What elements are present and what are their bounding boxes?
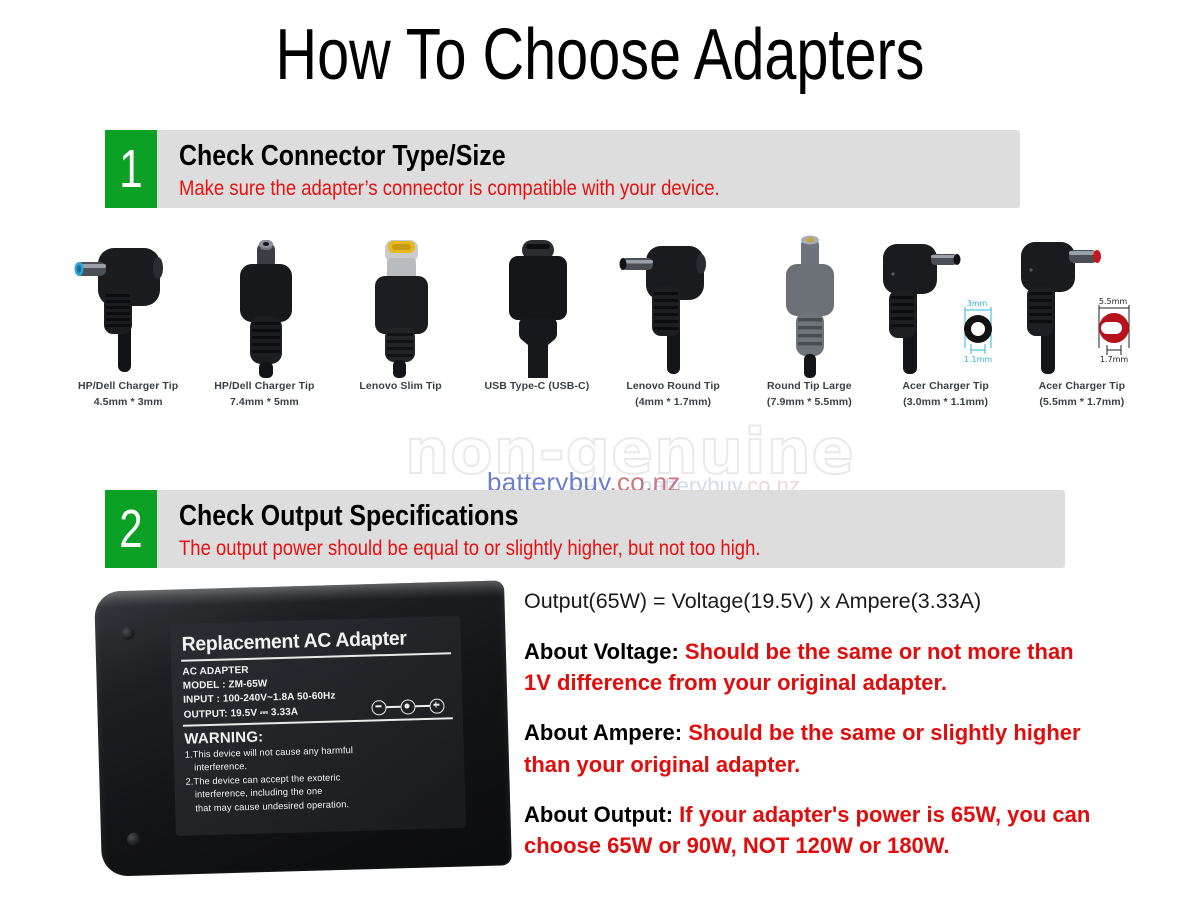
ac-adapter-photo: Replacement AC Adapter AC ADAPTER MODEL … bbox=[88, 578, 508, 878]
svg-text:1.1mm: 1.1mm bbox=[963, 355, 992, 364]
step-2-header: 2 Check Output Specifications The output… bbox=[105, 490, 1065, 568]
svg-text:3mm: 3mm bbox=[966, 299, 987, 308]
step-1-number: 1 bbox=[119, 142, 142, 196]
connector-name: Lenovo Round Tip bbox=[626, 380, 720, 392]
connector-item: 3mm 1.1mm Acer Charger Tip (3.0mm bbox=[878, 228, 1014, 438]
about-voltage-paragraph: About Voltage: Should be the same or not… bbox=[524, 636, 1104, 698]
connector-item: HP/Dell Charger Tip 7.4mm * 5mm bbox=[196, 228, 332, 438]
step-2-title: Check Output Specifications bbox=[179, 499, 941, 533]
connector-item: Lenovo Slim Tip bbox=[333, 228, 469, 438]
lenovo-slim-tip-icon bbox=[333, 228, 469, 378]
step-2-subtitle: The output power should be equal to or s… bbox=[179, 535, 959, 562]
round-tip-large-icon bbox=[741, 228, 877, 378]
adapter-warning-list: 1.This device will not cause any harmful… bbox=[185, 741, 456, 816]
output-specifications-text: Output(65W) = Voltage(19.5V) x Ampere(3.… bbox=[524, 588, 1104, 880]
connector-size: 7.4mm * 5mm bbox=[214, 394, 314, 410]
adapter-label-panel: Replacement AC Adapter AC ADAPTER MODEL … bbox=[170, 616, 466, 836]
connector-name: HP/Dell Charger Tip bbox=[214, 380, 314, 392]
connector-name: Round Tip Large bbox=[767, 380, 852, 392]
polarity-center-icon bbox=[400, 699, 415, 714]
acer-tip-5mm-icon: 5.5mm 1.7mm bbox=[1014, 228, 1150, 378]
polarity-plus-icon bbox=[429, 698, 444, 713]
svg-text:5.5mm: 5.5mm bbox=[1099, 297, 1128, 306]
lenovo-round-tip-icon bbox=[605, 228, 741, 378]
connector-name: Lenovo Slim Tip bbox=[359, 380, 441, 392]
connector-item: USB Type-C (USB-C) bbox=[469, 228, 605, 438]
connector-label: Acer Charger Tip (3.0mm * 1.1mm) bbox=[902, 378, 989, 411]
polarity-minus-icon bbox=[371, 700, 386, 715]
adapter-label-title: Replacement AC Adapter bbox=[181, 626, 442, 656]
adapter-spec-row: AC ADAPTER MODEL : ZM-65W INPUT : 100-24… bbox=[181, 658, 452, 722]
connector-name: USB Type-C (USB-C) bbox=[484, 380, 589, 392]
page-title: How To Choose Adapters bbox=[120, 14, 1080, 96]
connector-label: Round Tip Large (7.9mm * 5.5mm) bbox=[767, 378, 852, 411]
step-1-header: 1 Check Connector Type/Size Make sure th… bbox=[105, 130, 1020, 208]
step-1-number-badge: 1 bbox=[105, 130, 157, 208]
about-ampere-paragraph: About Ampere: Should be the same or slig… bbox=[524, 717, 1104, 779]
connector-name: HP/Dell Charger Tip bbox=[78, 380, 178, 392]
output-formula: Output(65W) = Voltage(19.5V) x Ampere(3.… bbox=[524, 588, 1104, 616]
screw-icon bbox=[127, 833, 140, 846]
connector-label: Acer Charger Tip (5.5mm * 1.7mm) bbox=[1039, 378, 1126, 411]
connector-size: (3.0mm * 1.1mm) bbox=[902, 394, 989, 410]
connector-label: HP/Dell Charger Tip 4.5mm * 3mm bbox=[78, 378, 178, 411]
connector-label: HP/Dell Charger Tip 7.4mm * 5mm bbox=[214, 378, 314, 411]
step-2-text: Check Output Specifications The output p… bbox=[157, 490, 1065, 568]
about-output-label: About Output: bbox=[524, 802, 673, 827]
connector-size: (5.5mm * 1.7mm) bbox=[1039, 394, 1126, 410]
about-output-paragraph: About Output: If your adapter's power is… bbox=[524, 799, 1104, 861]
connector-size: (4mm * 1.7mm) bbox=[626, 394, 720, 410]
connector-size: 4.5mm * 3mm bbox=[78, 394, 178, 410]
screw-icon bbox=[121, 627, 134, 640]
step-1-text: Check Connector Type/Size Make sure the … bbox=[157, 130, 1020, 208]
usb-type-c-icon bbox=[469, 228, 605, 378]
step-1-subtitle: Make sure the adapter’s connector is com… bbox=[179, 175, 919, 202]
connector-size: (7.9mm * 5.5mm) bbox=[767, 394, 852, 410]
connector-name: Acer Charger Tip bbox=[1039, 380, 1126, 392]
step-2-number: 2 bbox=[119, 502, 142, 556]
connector-item: 5.5mm 1.7mm Acer Charger Tip (5.5m bbox=[1014, 228, 1150, 438]
connector-name: Acer Charger Tip bbox=[902, 380, 989, 392]
connector-label: Lenovo Round Tip (4mm * 1.7mm) bbox=[626, 378, 720, 411]
polarity-line bbox=[386, 706, 400, 708]
infographic-page: How To Choose Adapters 1 Check Connector… bbox=[0, 0, 1200, 900]
step-1-title: Check Connector Type/Size bbox=[179, 139, 902, 173]
hp-straight-tip-icon bbox=[196, 228, 332, 378]
about-voltage-label: About Voltage: bbox=[524, 639, 679, 664]
connector-label: Lenovo Slim Tip bbox=[359, 378, 441, 394]
center-positive-polarity-icon bbox=[371, 698, 444, 715]
connector-item: Round Tip Large (7.9mm * 5.5mm) bbox=[741, 228, 877, 438]
polarity-line bbox=[415, 705, 429, 707]
connector-label: USB Type-C (USB-C) bbox=[484, 378, 589, 394]
acer-tip-3mm-icon: 3mm 1.1mm bbox=[878, 228, 1014, 378]
step-2-number-badge: 2 bbox=[105, 490, 157, 568]
svg-text:1.7mm: 1.7mm bbox=[1100, 355, 1129, 364]
adapter-spec-lines: AC ADAPTER MODEL : ZM-65W INPUT : 100-24… bbox=[182, 662, 336, 723]
hp-angled-tip-icon bbox=[60, 228, 196, 378]
about-ampere-label: About Ampere: bbox=[524, 720, 682, 745]
connector-item: Lenovo Round Tip (4mm * 1.7mm) bbox=[605, 228, 741, 438]
connector-gallery: HP/Dell Charger Tip 4.5mm * 3mm bbox=[60, 228, 1150, 438]
connector-item: HP/Dell Charger Tip 4.5mm * 3mm bbox=[60, 228, 196, 438]
